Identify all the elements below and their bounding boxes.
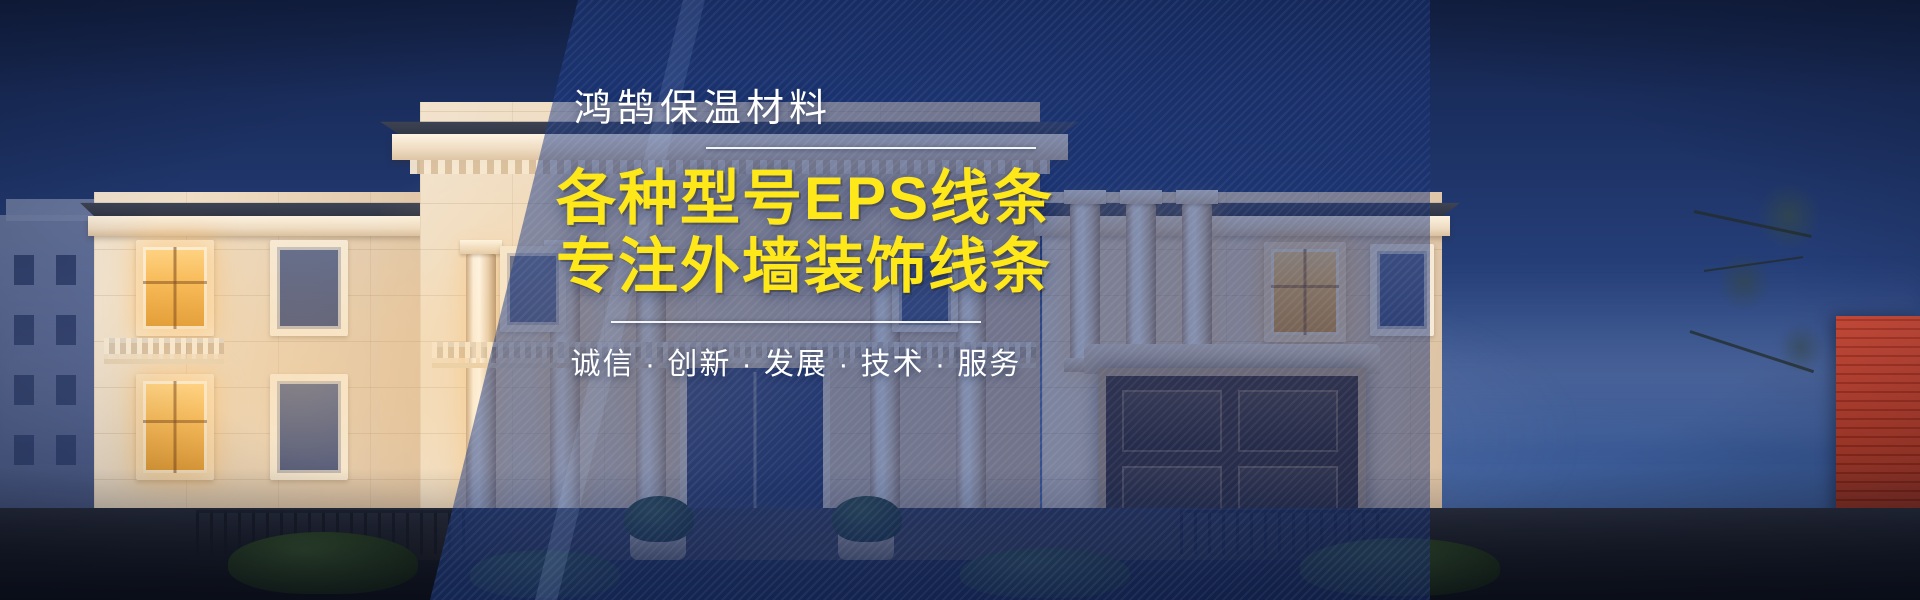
villa-left-cornice — [88, 216, 436, 236]
headline-group: 各种型号EPS线条 专注外墙装饰线条 — [556, 165, 1036, 302]
banner-text-block: 鸿鹄保温材料 各种型号EPS线条 专注外墙装饰线条 诚信 · 创新 · 发展 ·… — [556, 86, 1036, 383]
balustrade — [104, 338, 224, 364]
headline-line-1: 各种型号EPS线条 — [556, 165, 1036, 233]
divider-bottom — [611, 321, 981, 323]
tagline: 诚信 · 创新 · 发展 · 技术 · 服务 — [556, 339, 1036, 383]
tree-foliage — [1684, 180, 1834, 480]
divider-top — [706, 147, 1036, 149]
window-frame — [136, 240, 214, 336]
shrub — [228, 532, 418, 594]
headline-line-2: 专注外墙装饰线条 — [556, 233, 1036, 301]
window-frame — [270, 374, 348, 480]
hero-banner: 鸿鹄保温材料 各种型号EPS线条 专注外墙装饰线条 诚信 · 创新 · 发展 ·… — [0, 0, 1920, 600]
brand-name: 鸿鹄保温材料 — [556, 86, 1036, 134]
window-frame — [270, 240, 348, 336]
window-frame — [136, 374, 214, 480]
